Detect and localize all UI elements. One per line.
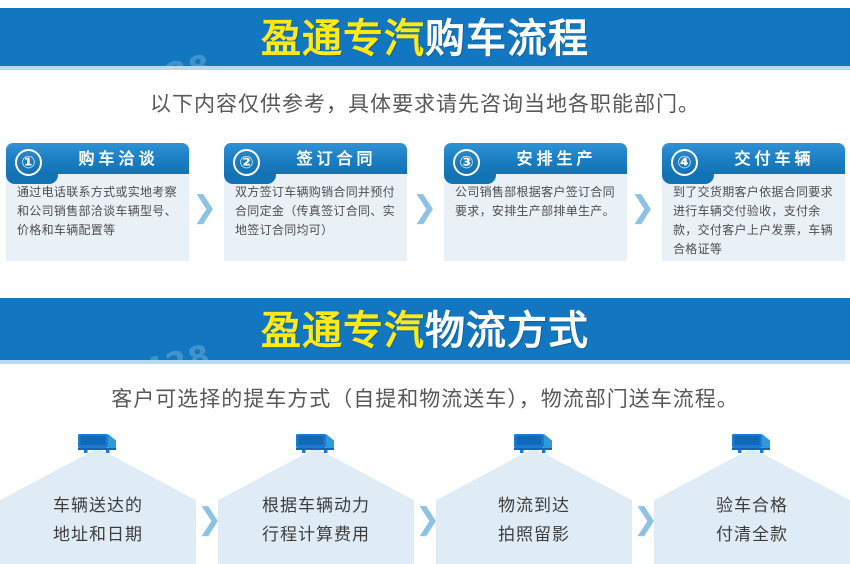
- logistics-card-label-line1: 验车合格: [654, 492, 850, 521]
- logistics-card-label-line2: 地址和日期: [0, 521, 196, 550]
- chevron-right-icon: ❯: [412, 193, 437, 223]
- purchase-process-subtitle: 以下内容仅供参考，具体要求请先咨询当地各职能部门。: [0, 88, 850, 118]
- logistics-card-label: 验车合格 付清全款: [654, 492, 850, 550]
- logistics-card-label-line1: 车辆送达的: [0, 492, 196, 521]
- truck-icon: [730, 432, 774, 456]
- step-number-badge: ④: [671, 149, 698, 176]
- logistics-card[interactable]: 根据车辆动力 行程计算费用: [218, 430, 414, 564]
- step-card-header: ④ 交付车辆: [662, 143, 845, 174]
- truck-icon: [76, 432, 120, 456]
- logistics-card[interactable]: 车辆送达的 地址和日期: [0, 430, 196, 564]
- logistics-banner-title: 盈通专汽物流方式: [0, 298, 850, 351]
- brand-name: 盈通专汽: [261, 16, 425, 62]
- step-card[interactable]: ② 签订合同 双方签订车辆购销合同并预付合同定金（传真签订合同、实地签订合同均可…: [224, 143, 407, 261]
- logistics-card-label-line2: 付清全款: [654, 521, 850, 550]
- logistics-card-label-line1: 根据车辆动力: [218, 492, 414, 521]
- purchase-process-banner-title: 盈通专汽购车流程: [0, 8, 850, 59]
- logistics-card-label-line1: 物流到达: [436, 492, 632, 521]
- banner-underline: [0, 360, 850, 364]
- step-title: 交付车辆: [708, 143, 841, 174]
- logistics-card-label-line2: 行程计算费用: [218, 521, 414, 550]
- banner-title-text: 购车流程: [425, 16, 589, 62]
- banner-underline: [0, 66, 850, 70]
- step-card-header: ② 签订合同: [224, 143, 407, 174]
- truck-icon: [512, 432, 556, 456]
- step-card-header: ③ 安排生产: [444, 143, 627, 174]
- chevron-right-icon: ❯: [630, 193, 655, 223]
- step-card[interactable]: ④ 交付车辆 到了交货期客户依据合同要求进行车辆交付验收，支付余款，交付客户上户…: [662, 143, 845, 261]
- purchase-process-banner: 13886852428 13886852428 13886852428 1388…: [0, 8, 850, 70]
- logistics-subtitle: 客户可选择的提车方式（自提和物流送车），物流部门送车流程。: [0, 383, 850, 413]
- logistics-step-list: 车辆送达的 地址和日期 根据车辆动力 行程计算费用 物流: [0, 430, 850, 564]
- step-body-text: 双方签订车辆购销合同并预付合同定金（传真签订合同、实地签订合同均可）: [224, 174, 407, 261]
- step-title: 安排生产: [490, 143, 623, 174]
- logistics-card-label: 物流到达 拍照留影: [436, 492, 632, 550]
- logistics-banner: 13886852428 13886852428 13886852428 1388…: [0, 298, 850, 364]
- logistics-card-label: 根据车辆动力 行程计算费用: [218, 492, 414, 550]
- truck-icon: [294, 432, 338, 456]
- logistics-card[interactable]: 物流到达 拍照留影: [436, 430, 632, 564]
- logistics-card-label: 车辆送达的 地址和日期: [0, 492, 196, 550]
- banner-title-text: 物流方式: [425, 308, 589, 354]
- logistics-card[interactable]: 验车合格 付清全款: [654, 430, 850, 564]
- step-number-badge: ②: [233, 149, 260, 176]
- step-title: 购车洽谈: [52, 143, 185, 174]
- step-body-text: 公司销售部根据客户签订合同要求，安排生产部排单生产。: [444, 174, 627, 261]
- step-title: 签订合同: [270, 143, 403, 174]
- logistics-card-label-line2: 拍照留影: [436, 521, 632, 550]
- chevron-right-icon: ❯: [192, 193, 217, 223]
- step-card-header: ① 购车洽谈: [6, 143, 189, 174]
- brand-name: 盈通专汽: [261, 308, 425, 354]
- step-card[interactable]: ① 购车洽谈 通过电话联系方式或实地考察和公司销售部洽谈车辆型号、价格和车辆配置…: [6, 143, 189, 261]
- step-card[interactable]: ③ 安排生产 公司销售部根据客户签订合同要求，安排生产部排单生产。: [444, 143, 627, 261]
- step-number-badge: ③: [453, 149, 480, 176]
- step-body-text: 通过电话联系方式或实地考察和公司销售部洽谈车辆型号、价格和车辆配置等: [6, 174, 189, 261]
- step-body-text: 到了交货期客户依据合同要求进行车辆交付验收，支付余款，交付客户上户发票，车辆合格…: [662, 174, 845, 261]
- step-number-badge: ①: [15, 149, 42, 176]
